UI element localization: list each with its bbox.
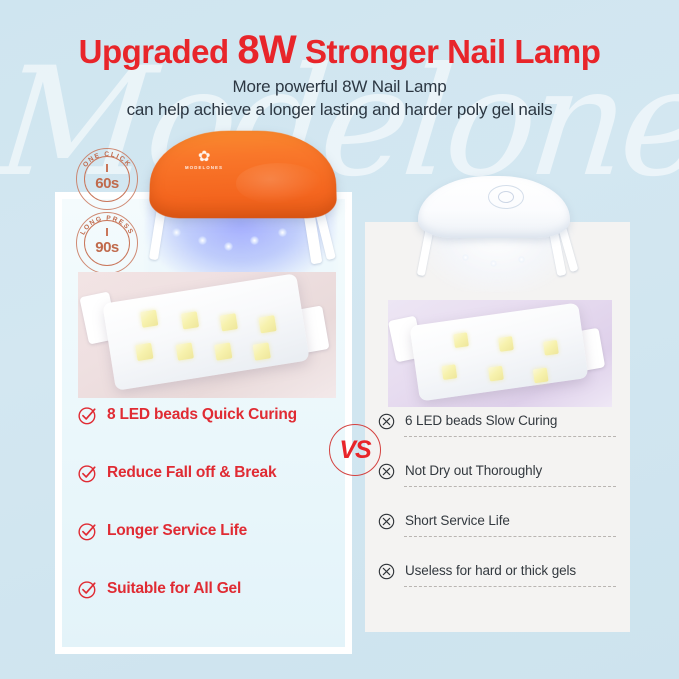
lamp-shell-orange: ✿ MODELONES	[149, 131, 337, 219]
uv-led-dot	[490, 260, 497, 267]
uv-led-dot	[250, 236, 259, 245]
feature-underline	[404, 536, 616, 537]
x-circle-icon	[378, 563, 395, 580]
page-title: Upgraded 8W Stronger Nail Lamp	[0, 28, 679, 73]
butterfly-icon: ✿	[174, 150, 234, 164]
led-bead	[533, 368, 549, 384]
led-bead	[181, 311, 199, 329]
badge-mode-arc: ONE CLICK	[76, 148, 138, 210]
versus-label: VS	[339, 436, 370, 465]
led-board-right	[410, 303, 589, 402]
feature-underline	[404, 436, 616, 437]
uv-led-dot	[198, 236, 207, 245]
badge-mode-arc: LONG PRESS	[76, 212, 138, 274]
led-closeup-photo-8-beads	[78, 272, 336, 398]
brand-name: MODELONES	[174, 164, 234, 172]
x-circle-icon	[378, 463, 395, 480]
subheading-line-1: More powerful 8W Nail Lamp	[0, 77, 679, 97]
led-bead	[176, 342, 194, 360]
led-bead	[140, 310, 158, 328]
feature-label: Reduce Fall off & Break	[107, 463, 276, 483]
timer-badge-one-click: 60s ONE CLICK	[76, 148, 138, 210]
feature-item-con: 6 LED beads Slow Curing	[378, 412, 623, 462]
check-circle-icon	[78, 580, 97, 599]
uv-led-dot	[462, 254, 469, 261]
page-title-wattage: 8W	[237, 28, 296, 72]
check-circle-icon	[78, 522, 97, 541]
infographic-page: Modelones Upgraded 8W Stronger Nail Lamp…	[0, 0, 679, 679]
badge-mode-label: LONG PRESS	[79, 215, 134, 236]
feature-label: Useless for hard or thick gels	[405, 562, 576, 580]
product-image-white-lamp	[400, 172, 600, 302]
product-image-orange-lamp: ✿ MODELONES	[128, 128, 348, 288]
power-button-icon[interactable]	[488, 185, 524, 209]
led-bead	[498, 336, 514, 352]
uv-led-dot	[224, 242, 233, 251]
feature-item-pro: Suitable for All Gel	[78, 579, 338, 637]
feature-label: Not Dry out Thoroughly	[405, 462, 542, 480]
led-bead	[543, 340, 559, 356]
led-bead	[441, 364, 457, 380]
check-circle-icon	[78, 464, 97, 483]
badge-mode-label: ONE CLICK	[82, 151, 132, 169]
brand-logo: ✿ MODELONES	[174, 150, 234, 172]
feature-label: 6 LED beads Slow Curing	[405, 412, 557, 430]
led-bead	[135, 343, 153, 361]
feature-item-pro: 8 LED beads Quick Curing	[78, 405, 338, 463]
led-bead	[453, 332, 469, 348]
feature-label: Suitable for All Gel	[107, 579, 241, 599]
uv-led-dot	[172, 228, 181, 237]
feature-item-pro: Reduce Fall off & Break	[78, 463, 338, 521]
uv-led-dot	[518, 256, 525, 263]
feature-label: Short Service Life	[405, 512, 510, 530]
feature-underline	[404, 586, 616, 587]
feature-item-pro: Longer Service Life	[78, 521, 338, 579]
led-bead	[253, 342, 271, 360]
feature-list-pros: 8 LED beads Quick Curing Reduce Fall off…	[78, 405, 338, 637]
page-title-part1: Upgraded	[79, 33, 238, 70]
feature-item-con: Useless for hard or thick gels	[378, 562, 623, 612]
feature-list-cons: 6 LED beads Slow Curing Not Dry out Thor…	[378, 412, 623, 612]
uv-led-dot	[278, 228, 287, 237]
feature-label: 8 LED beads Quick Curing	[107, 405, 297, 425]
check-circle-icon	[78, 406, 97, 425]
x-circle-icon	[378, 513, 395, 530]
page-title-part2: Stronger Nail Lamp	[296, 33, 600, 70]
led-closeup-photo-6-beads	[388, 300, 612, 407]
lamp-shell-white	[418, 176, 570, 238]
led-bead	[214, 342, 232, 360]
versus-badge: VS	[329, 424, 381, 476]
led-bead	[258, 315, 276, 333]
feature-label: Longer Service Life	[107, 521, 247, 541]
led-bead	[488, 366, 504, 382]
feature-underline	[404, 486, 616, 487]
timer-badge-long-press: 90s LONG PRESS	[76, 212, 138, 274]
subheading-line-2: can help achieve a longer lasting and ha…	[0, 100, 679, 120]
led-bead	[220, 313, 238, 331]
feature-item-con: Not Dry out Thoroughly	[378, 462, 623, 512]
led-board-left	[102, 273, 309, 391]
feature-item-con: Short Service Life	[378, 512, 623, 562]
x-circle-icon	[378, 413, 395, 430]
